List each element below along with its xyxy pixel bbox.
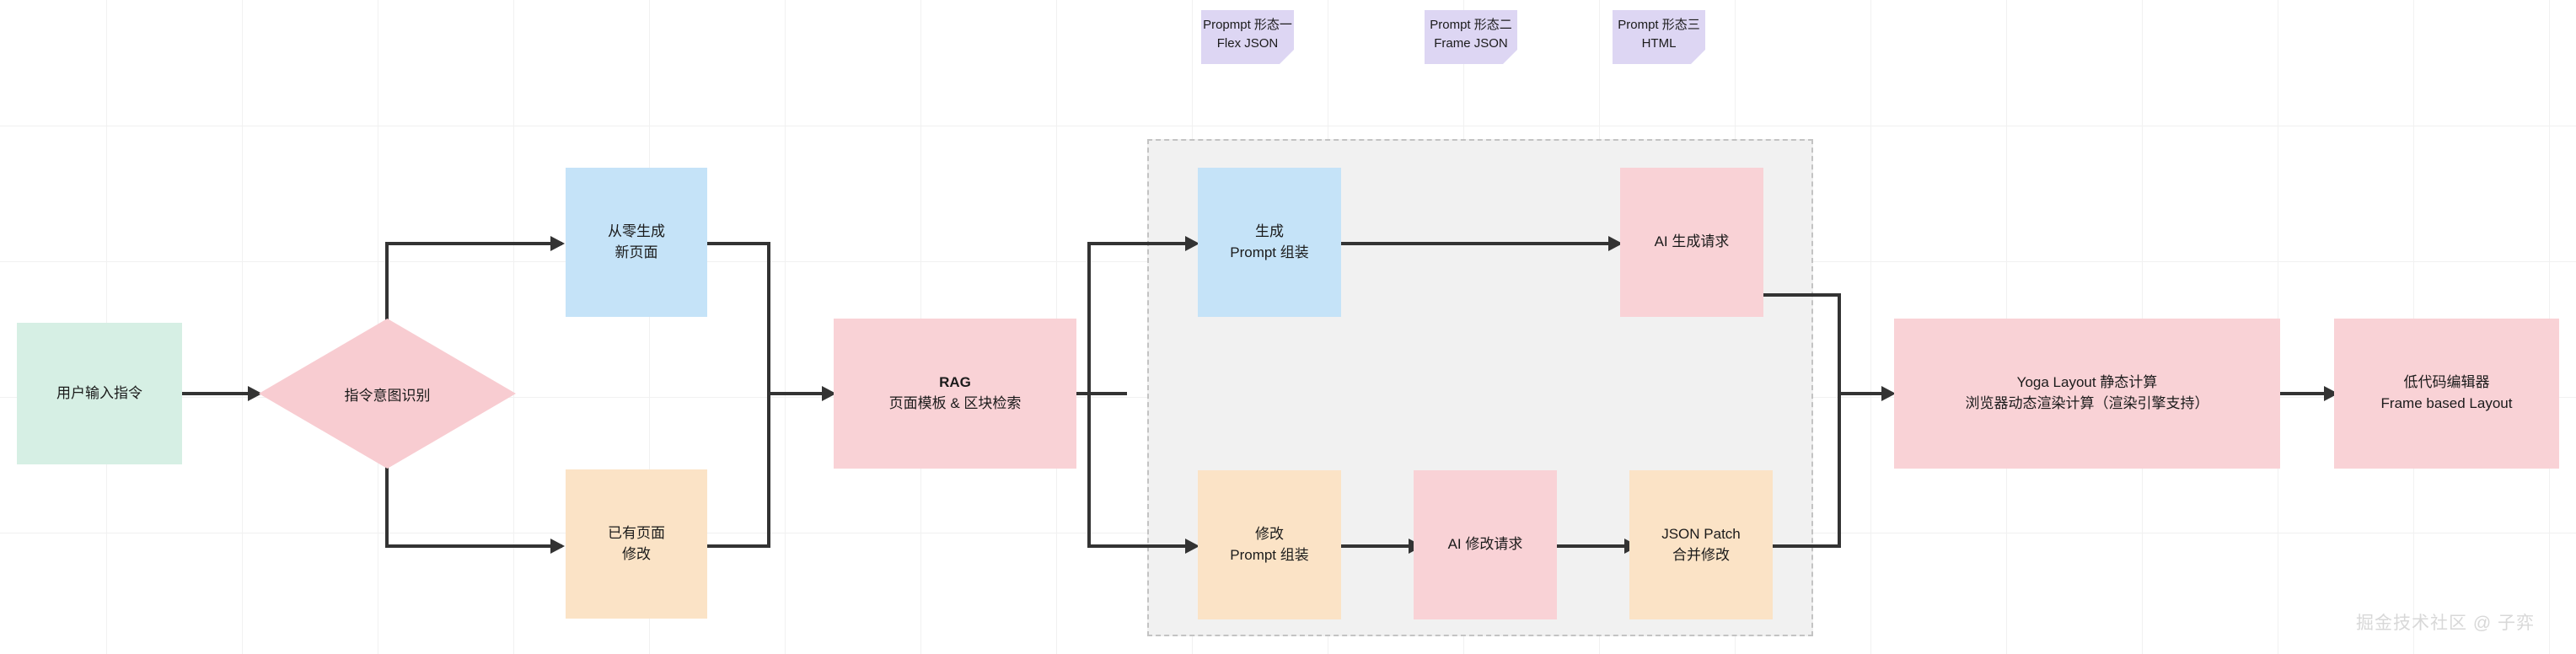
connector-json-patch-out: [1763, 544, 1841, 548]
connector-modify-to-merge: [707, 544, 770, 548]
node-generate-new-page[interactable]: 从零生成 新页面: [566, 168, 707, 317]
sticky-note-line1: Prompt 形态二: [1430, 16, 1512, 35]
node-line2: Prompt 组装: [1230, 545, 1309, 566]
sticky-note-line1: Propmpt 形态一: [1203, 16, 1292, 35]
node-modify-prompt-assembly[interactable]: 修改 Prompt 组装: [1198, 470, 1341, 619]
sticky-note-flex-json[interactable]: Propmpt 形态一 Flex JSON: [1201, 10, 1294, 64]
connector-ai-generate-out: [1763, 293, 1841, 297]
node-lowcode-editor[interactable]: 低代码编辑器 Frame based Layout: [2334, 319, 2559, 469]
connector-modify-prompt-to-ai-modify: [1340, 544, 1418, 548]
connector-intent-up-horizontal: [385, 242, 562, 245]
node-label: AI 生成请求: [1655, 232, 1730, 253]
connector-generate-prompt-to-ai-generate: [1340, 242, 1618, 245]
node-line2: 页面模板 & 区块检索: [889, 394, 1022, 415]
node-line2: 修改: [622, 544, 651, 566]
connector-input-to-intent: [182, 392, 250, 395]
node-json-patch-merge[interactable]: JSON Patch 合并修改: [1629, 470, 1773, 619]
node-line1: 生成: [1255, 222, 1284, 243]
sticky-note-line1: Prompt 形态三: [1618, 16, 1700, 35]
watermark-text: 掘金技术社区 @ 子弈: [2356, 614, 2535, 633]
arrowhead-intent-to-modify: [550, 539, 565, 554]
node-line1: 低代码编辑器: [2404, 373, 2490, 394]
connector-intent-down-horizontal: [385, 544, 562, 548]
sticky-note-line2: Frame JSON: [1434, 35, 1508, 54]
watermark: 掘金技术社区 @ 子弈: [2356, 609, 2535, 635]
connector-right-merge-vertical: [1838, 293, 1841, 548]
node-line1: JSON Patch: [1661, 524, 1741, 545]
sticky-note-line2: Flex JSON: [1217, 35, 1279, 54]
node-line2: Prompt 组装: [1230, 243, 1309, 264]
node-line2: 合并修改: [1672, 545, 1730, 566]
arrowhead-intent-to-generate: [550, 236, 565, 251]
node-line1: 从零生成: [608, 222, 665, 243]
node-line2: Frame based Layout: [2381, 394, 2513, 415]
node-user-input[interactable]: 用户输入指令: [17, 323, 182, 464]
node-ai-modify-request[interactable]: AI 修改请求: [1414, 470, 1557, 619]
node-label: 用户输入指令: [56, 383, 142, 405]
connector-merge-to-layout: [1838, 392, 1888, 395]
node-generate-prompt-assembly[interactable]: 生成 Prompt 组装: [1198, 168, 1341, 317]
flowchart-canvas: Propmpt 形态一 Flex JSON Prompt 形态二 Frame J…: [0, 0, 2576, 654]
connector-merge-to-rag: [767, 392, 828, 395]
node-rag[interactable]: RAG 页面模板 & 区块检索: [834, 319, 1076, 469]
node-line1: Yoga Layout 静态计算: [2017, 373, 2158, 394]
node-line1: 修改: [1255, 524, 1284, 545]
connector-rag-to-generate-prompt: [1087, 242, 1195, 245]
sticky-note-frame-json[interactable]: Prompt 形态二 Frame JSON: [1425, 10, 1517, 64]
connector-rag-split-vertical: [1087, 242, 1091, 548]
node-intent-recognition[interactable]: 指令意图识别: [259, 319, 516, 469]
connector-ai-modify-to-json-patch: [1556, 544, 1634, 548]
node-label: AI 修改请求: [1448, 534, 1523, 555]
node-ai-generate-request[interactable]: AI 生成请求: [1620, 168, 1763, 317]
sticky-note-html[interactable]: Prompt 形态三 HTML: [1613, 10, 1705, 64]
connector-rag-out: [1076, 392, 1127, 395]
node-modify-existing-page[interactable]: 已有页面 修改: [566, 469, 707, 619]
connector-generate-to-merge: [707, 242, 770, 245]
node-label: 指令意图识别: [345, 383, 431, 405]
node-layout-compute[interactable]: Yoga Layout 静态计算 浏览器动态渲染计算（渲染引擎支持）: [1894, 319, 2280, 469]
node-line2: 浏览器动态渲染计算（渲染引擎支持）: [1966, 394, 2209, 415]
node-line1: 已有页面: [608, 523, 665, 544]
connector-rag-to-modify-prompt: [1087, 544, 1195, 548]
node-line2: 新页面: [615, 243, 658, 264]
sticky-note-line2: HTML: [1642, 35, 1677, 54]
node-line1: RAG: [939, 373, 971, 394]
